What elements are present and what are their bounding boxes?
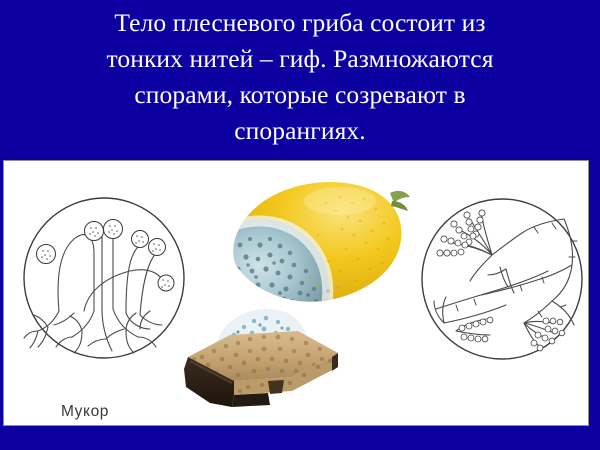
penicillium-figure: Пеницилл <box>414 191 589 366</box>
moldy-lemon-figure <box>222 173 417 313</box>
title-line-4: спорангиях. <box>234 113 366 149</box>
moldy-bread-slice-photo-icon <box>172 301 347 413</box>
mucor-microscopy-circle-icon <box>14 191 194 366</box>
moldy-lemon-photo-icon <box>222 173 417 313</box>
penicillium-microscopy-circle-icon <box>414 191 589 366</box>
illustration-panel: Мукор <box>3 160 589 426</box>
title-line-2: тонких нитей – гиф. Размножаются <box>106 41 493 77</box>
title-line-3: спорами, которые созревают в <box>134 77 465 113</box>
title-line-1: Тело плесневого гриба состоит из <box>114 5 485 41</box>
moldy-bread-figure <box>172 301 347 413</box>
mucor-label: Мукор <box>61 403 109 421</box>
slide-title: Тело плесневого гриба состоит из тонких … <box>0 0 600 158</box>
presentation-slide: Тело плесневого гриба состоит из тонких … <box>0 0 600 450</box>
mucor-figure: Мукор <box>14 191 194 366</box>
